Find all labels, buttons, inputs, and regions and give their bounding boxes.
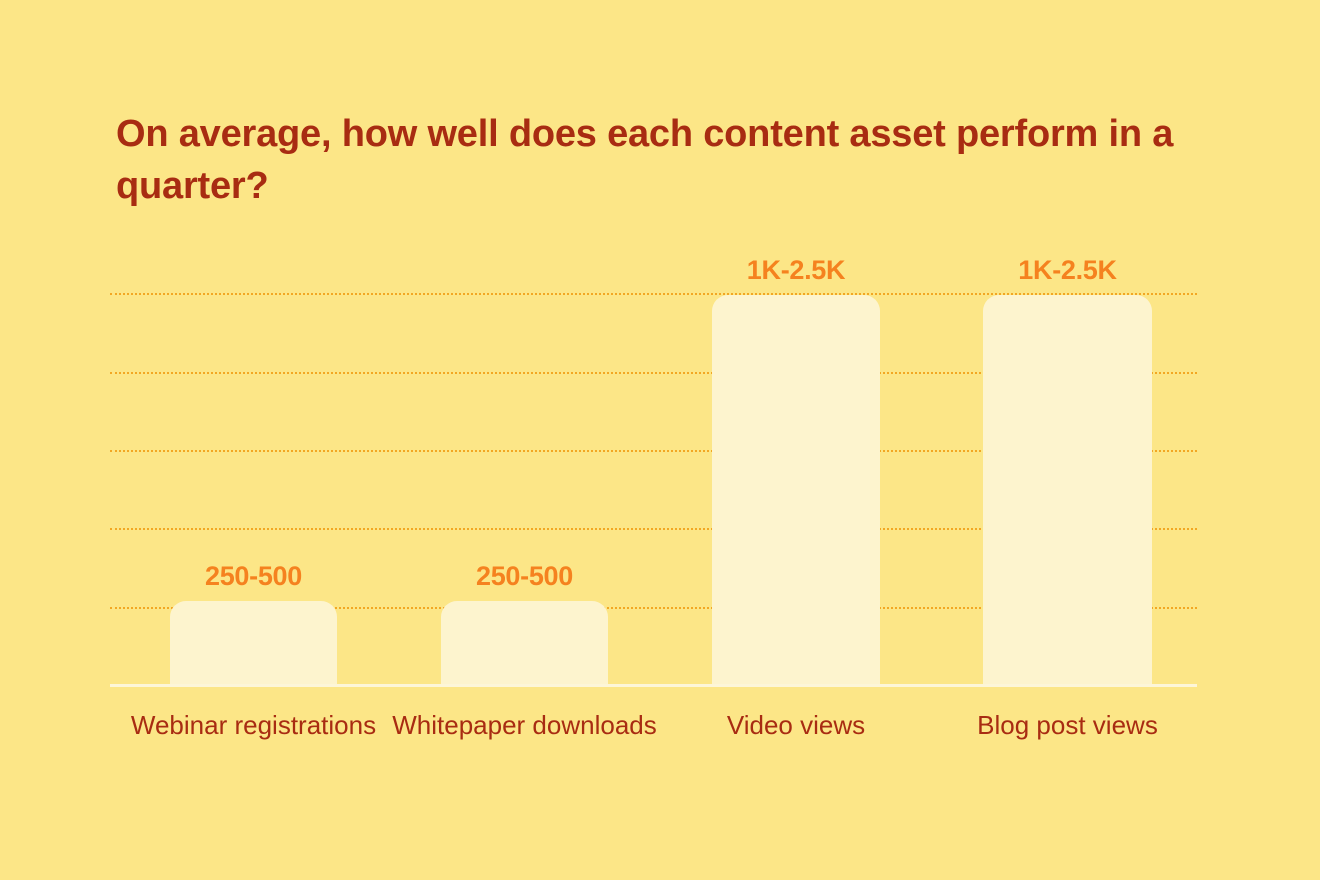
bar-blog-post-views[interactable] bbox=[983, 295, 1152, 684]
bar-value-whitepaper-downloads: 250-500 bbox=[476, 561, 573, 592]
x-label-video-views: Video views bbox=[652, 705, 940, 745]
bars-layer: 250-500 250-500 1K-2.5K 1K-2.5K bbox=[110, 285, 1197, 687]
x-label-blog-post-views: Blog post views bbox=[923, 705, 1212, 745]
bar-webinar-registrations[interactable] bbox=[170, 601, 337, 684]
bar-group-blog-post-views[interactable]: 1K-2.5K bbox=[983, 285, 1152, 684]
plot-area: 250-500 250-500 1K-2.5K 1K-2.5K bbox=[110, 285, 1197, 687]
chart-canvas: On average, how well does each content a… bbox=[0, 0, 1320, 880]
x-label-webinar-registrations: Webinar registrations bbox=[110, 705, 397, 745]
bar-group-video-views[interactable]: 1K-2.5K bbox=[712, 285, 880, 684]
bar-value-webinar-registrations: 250-500 bbox=[205, 561, 302, 592]
bar-group-webinar-registrations[interactable]: 250-500 bbox=[170, 285, 337, 684]
bar-value-blog-post-views: 1K-2.5K bbox=[1018, 255, 1116, 286]
bar-group-whitepaper-downloads[interactable]: 250-500 bbox=[441, 285, 608, 684]
bar-whitepaper-downloads[interactable] bbox=[441, 601, 608, 684]
bar-value-video-views: 1K-2.5K bbox=[747, 255, 845, 286]
bar-video-views[interactable] bbox=[712, 295, 880, 684]
x-label-whitepaper-downloads: Whitepaper downloads bbox=[381, 705, 668, 745]
chart-title: On average, how well does each content a… bbox=[116, 108, 1226, 212]
x-axis-labels: Webinar registrations Whitepaper downloa… bbox=[110, 705, 1197, 815]
